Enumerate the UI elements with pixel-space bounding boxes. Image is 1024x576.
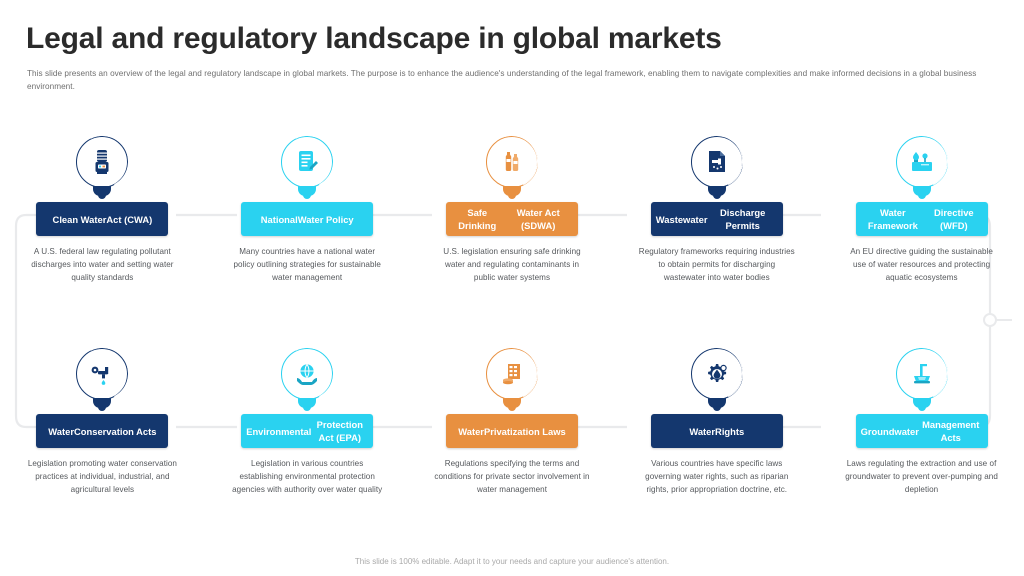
page-subtitle: This slide presents an overview of the l… xyxy=(27,67,999,93)
card-description: Regulations specifying the terms and con… xyxy=(434,457,590,496)
card-title-line1: Safe Drinking xyxy=(451,206,503,232)
card-title[interactable]: Groundwater Management Acts xyxy=(856,414,988,448)
icon-badge xyxy=(483,348,541,410)
card-row-bottom: Water Conservation Acts Legislation prom… xyxy=(0,348,1024,496)
slide-footer: This slide is 100% editable. Adapt it to… xyxy=(0,557,1024,566)
card-title-line1: Environmental xyxy=(246,425,311,438)
card-title-line1: National xyxy=(261,213,298,226)
card-description: Legislation in various countries establi… xyxy=(229,457,385,496)
card-description: Laws regulating the extraction and use o… xyxy=(844,457,1000,496)
badge-inner xyxy=(491,353,533,395)
globe-hands-icon xyxy=(293,360,321,388)
card-title-line2: Privatization Laws xyxy=(484,425,566,438)
card-title[interactable]: Water Privatization Laws xyxy=(446,414,578,448)
card-title-line2: Water Policy xyxy=(298,213,354,226)
badge-tab xyxy=(298,186,316,196)
badge-tab xyxy=(93,398,111,408)
badge-tab xyxy=(93,186,111,196)
water-reservoir-icon xyxy=(908,148,936,176)
card-title[interactable]: Water Rights xyxy=(651,414,783,448)
icon-badge xyxy=(73,348,131,410)
card-title[interactable]: National Water Policy xyxy=(241,202,373,236)
card-title-line1: Clean Water xyxy=(53,213,107,226)
card-water-conservation-acts[interactable]: Water Conservation Acts Legislation prom… xyxy=(0,348,205,496)
icon-badge xyxy=(483,136,541,198)
icon-badge xyxy=(278,348,336,410)
card-title-line2: Directive (WFD) xyxy=(925,206,983,232)
card-title[interactable]: Wastewater Discharge Permits xyxy=(651,202,783,236)
badge-tab xyxy=(503,398,521,408)
card-description: A U.S. federal law regulating pollutant … xyxy=(24,245,180,284)
faucet-gear-icon xyxy=(88,361,116,387)
icon-badge xyxy=(688,136,746,198)
card-title-line1: Water xyxy=(48,425,74,438)
card-title[interactable]: Clean Water Act (CWA) xyxy=(36,202,168,236)
badge-tab xyxy=(298,398,316,408)
badge-inner xyxy=(286,353,328,395)
icon-badge xyxy=(688,348,746,410)
card-water-framework-directive[interactable]: Water Framework Directive (WFD) An EU di… xyxy=(819,136,1024,284)
card-title-line1: Groundwater xyxy=(861,425,919,438)
card-title-line2: Management Acts xyxy=(919,418,983,444)
badge-inner xyxy=(491,141,533,183)
card-title-line2: Water Act (SDWA) xyxy=(503,206,573,232)
card-clean-water-act[interactable]: Clean Water Act (CWA) A U.S. federal law… xyxy=(0,136,205,284)
badge-tab xyxy=(708,398,726,408)
icon-badge xyxy=(893,136,951,198)
card-title-line2: Rights xyxy=(715,425,744,438)
badge-inner xyxy=(696,353,738,395)
icon-badge xyxy=(73,136,131,198)
card-title[interactable]: Environmental Protection Act (EPA) xyxy=(241,414,373,448)
badge-tab xyxy=(503,186,521,196)
badge-inner xyxy=(901,353,943,395)
wastewater-pipe-document-icon xyxy=(704,148,730,176)
water-dispenser-icon xyxy=(89,148,115,176)
card-wastewater-discharge-permits[interactable]: Wastewater Discharge Permits Regulatory … xyxy=(614,136,819,284)
card-description: Many countries have a national water pol… xyxy=(229,245,385,284)
water-bottles-icon xyxy=(499,148,525,176)
card-title[interactable]: Safe Drinking Water Act (SDWA) xyxy=(446,202,578,236)
badge-tab xyxy=(913,398,931,408)
card-environmental-protection-act[interactable]: Environmental Protection Act (EPA) Legis… xyxy=(205,348,410,496)
card-description: Legislation promoting water conservation… xyxy=(24,457,180,496)
badge-inner xyxy=(696,141,738,183)
card-title-line1: Water Framework xyxy=(861,206,926,232)
badge-tab xyxy=(708,186,726,196)
icon-badge xyxy=(893,348,951,410)
badge-inner xyxy=(286,141,328,183)
card-water-privatization-laws[interactable]: Water Privatization Laws Regulations spe… xyxy=(410,348,615,496)
card-title-line1: Water xyxy=(458,425,484,438)
gear-water-drop-icon xyxy=(703,360,731,388)
card-description: Various countries have specific laws gov… xyxy=(639,457,795,496)
coins-building-icon xyxy=(498,360,526,388)
slide-canvas: Legal and regulatory landscape in global… xyxy=(0,0,1024,576)
card-national-water-policy[interactable]: National Water Policy Many countries hav… xyxy=(205,136,410,284)
card-safe-drinking-water-act[interactable]: Safe Drinking Water Act (SDWA) U.S. legi… xyxy=(410,136,615,284)
groundwater-pump-icon xyxy=(908,360,936,388)
page-title: Legal and regulatory landscape in global… xyxy=(26,22,722,56)
card-description: Regulatory frameworks requiring industri… xyxy=(639,245,795,284)
card-title-line2: Conservation Acts xyxy=(74,425,156,438)
badge-tab xyxy=(913,186,931,196)
card-title[interactable]: Water Conservation Acts xyxy=(36,414,168,448)
policy-document-edit-icon xyxy=(294,148,320,176)
card-description: U.S. legislation ensuring safe drinking … xyxy=(434,245,590,284)
card-title-line2: Protection Act (EPA) xyxy=(311,418,368,444)
card-title-line2: Discharge Permits xyxy=(708,206,778,232)
badge-inner xyxy=(901,141,943,183)
card-title[interactable]: Water Framework Directive (WFD) xyxy=(856,202,988,236)
card-row-top: Clean Water Act (CWA) A U.S. federal law… xyxy=(0,136,1024,284)
card-title-line2: Act (CWA) xyxy=(106,213,152,226)
icon-badge xyxy=(278,136,336,198)
card-groundwater-management-acts[interactable]: Groundwater Management Acts Laws regulat… xyxy=(819,348,1024,496)
card-description: An EU directive guiding the sustainable … xyxy=(844,245,1000,284)
card-water-rights[interactable]: Water Rights Various countries have spec… xyxy=(614,348,819,496)
card-title-line1: Water xyxy=(689,425,715,438)
card-title-line1: Wastewater xyxy=(656,213,708,226)
